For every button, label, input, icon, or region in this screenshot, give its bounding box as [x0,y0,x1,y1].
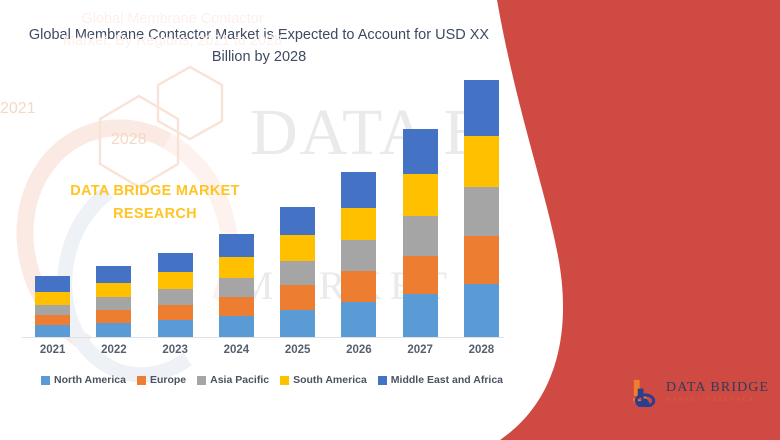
footer-logo-subtitle: MARKET RESEARCH [666,398,769,403]
stacked-bar-2021[interactable] [35,276,70,337]
hexagon-2021-label: 2021 [0,100,36,118]
legend-swatch-icon [137,376,146,385]
stacked-bar-2025[interactable] [280,207,315,337]
stacked-bar-2027[interactable] [403,129,438,337]
footer-logo-title: DATA BRIDGE [666,381,769,395]
bar-segment-2023-north-america[interactable] [158,320,193,337]
x-axis-label-2025: 2025 [267,344,328,362]
brand-line-2: RESEARCH [113,206,197,222]
bar-segment-2021-north-america[interactable] [35,325,70,337]
bar-segment-2025-north-america[interactable] [280,310,315,337]
bar-segment-2025-middle-east-and-africa[interactable] [280,207,315,235]
footer-logo: DATA BRIDGE MARKET RESEARCH [630,378,769,407]
x-axis-label-2024: 2024 [206,344,267,362]
bar-segment-2023-asia-pacific[interactable] [158,289,193,304]
data-bridge-logo-icon [630,378,659,407]
bar-segment-2024-south-america[interactable] [219,257,254,278]
bar-segment-2025-europe[interactable] [280,285,315,310]
legend-label: Europe [150,374,186,386]
bar-segment-2026-south-america[interactable] [341,208,376,240]
bar-segment-2023-south-america[interactable] [158,272,193,289]
right-red-panel [480,0,780,440]
legend-item-south-america[interactable]: South America [280,374,367,386]
brand-line-1: DATA BRIDGE MARKET [70,183,239,199]
x-axis-label-2023: 2023 [145,344,206,362]
bar-segment-2025-asia-pacific[interactable] [280,261,315,286]
stacked-bar-2026[interactable] [341,172,376,337]
stacked-bar-2023[interactable] [158,253,193,337]
infographic-root: DATA B MARKET R Global Membrane Contacto… [0,0,780,440]
bar-segment-2024-europe[interactable] [219,297,254,316]
bar-segment-2027-south-america[interactable] [403,174,438,215]
bar-segment-2021-middle-east-and-africa[interactable] [35,276,70,291]
legend-label: Asia Pacific [210,374,269,386]
footer-logo-text: DATA BRIDGE MARKET RESEARCH [666,381,769,403]
bar-segment-2026-middle-east-and-africa[interactable] [341,172,376,208]
x-axis-label-2026: 2026 [328,344,389,362]
panel-brand-text: DATA BRIDGE MARKET RESEARCH [30,180,280,226]
legend-swatch-icon [280,376,289,385]
bar-segment-2026-asia-pacific[interactable] [341,240,376,271]
legend-swatch-icon [41,376,50,385]
x-axis-label-2022: 2022 [83,344,144,362]
bar-segment-2027-asia-pacific[interactable] [403,216,438,256]
bar-segment-2021-europe[interactable] [35,315,70,325]
legend-swatch-icon [197,376,206,385]
bar-segment-2024-middle-east-and-africa[interactable] [219,234,254,257]
stacked-bar-2022[interactable] [96,266,131,337]
legend-item-north-america[interactable]: North America [41,374,126,386]
legend-label: South America [293,374,367,386]
x-axis-label-2021: 2021 [22,344,83,362]
legend-item-europe[interactable]: Europe [137,374,186,386]
bar-slot-2027 [390,80,451,337]
x-axis-label-2027: 2027 [390,344,451,362]
bar-segment-2023-europe[interactable] [158,305,193,320]
bar-segment-2027-middle-east-and-africa[interactable] [403,129,438,174]
bar-segment-2022-south-america[interactable] [96,283,131,297]
legend-label: North America [54,374,126,386]
legend-item-asia-pacific[interactable]: Asia Pacific [197,374,269,386]
bar-segment-2022-asia-pacific[interactable] [96,297,131,310]
bar-segment-2022-north-america[interactable] [96,323,131,337]
red-panel-shape [480,0,780,440]
bar-segment-2026-europe[interactable] [341,271,376,302]
bar-segment-2024-north-america[interactable] [219,316,254,337]
panel-title: Global Membrane Contactor Market, By Reg… [60,8,285,52]
bar-segment-2024-asia-pacific[interactable] [219,278,254,297]
bar-segment-2022-europe[interactable] [96,310,131,323]
bar-segment-2027-north-america[interactable] [403,294,438,337]
bar-segment-2021-asia-pacific[interactable] [35,305,70,315]
bar-segment-2025-south-america[interactable] [280,235,315,261]
stacked-bar-2024[interactable] [219,234,254,337]
chart-legend: North AmericaEuropeAsia PacificSouth Ame… [22,372,522,388]
bar-segment-2026-north-america[interactable] [341,302,376,337]
x-axis-line [22,337,504,338]
legend-swatch-icon [378,376,387,385]
bar-segment-2023-middle-east-and-africa[interactable] [158,253,193,272]
bar-segment-2021-south-america[interactable] [35,292,70,305]
bar-segment-2027-europe[interactable] [403,256,438,295]
x-axis-labels: 20212022202320242025202620272028 [22,344,512,362]
bar-slot-2026 [328,80,389,337]
bar-segment-2022-middle-east-and-africa[interactable] [96,266,131,283]
hexagon-2028-label: 2028 [111,131,147,149]
